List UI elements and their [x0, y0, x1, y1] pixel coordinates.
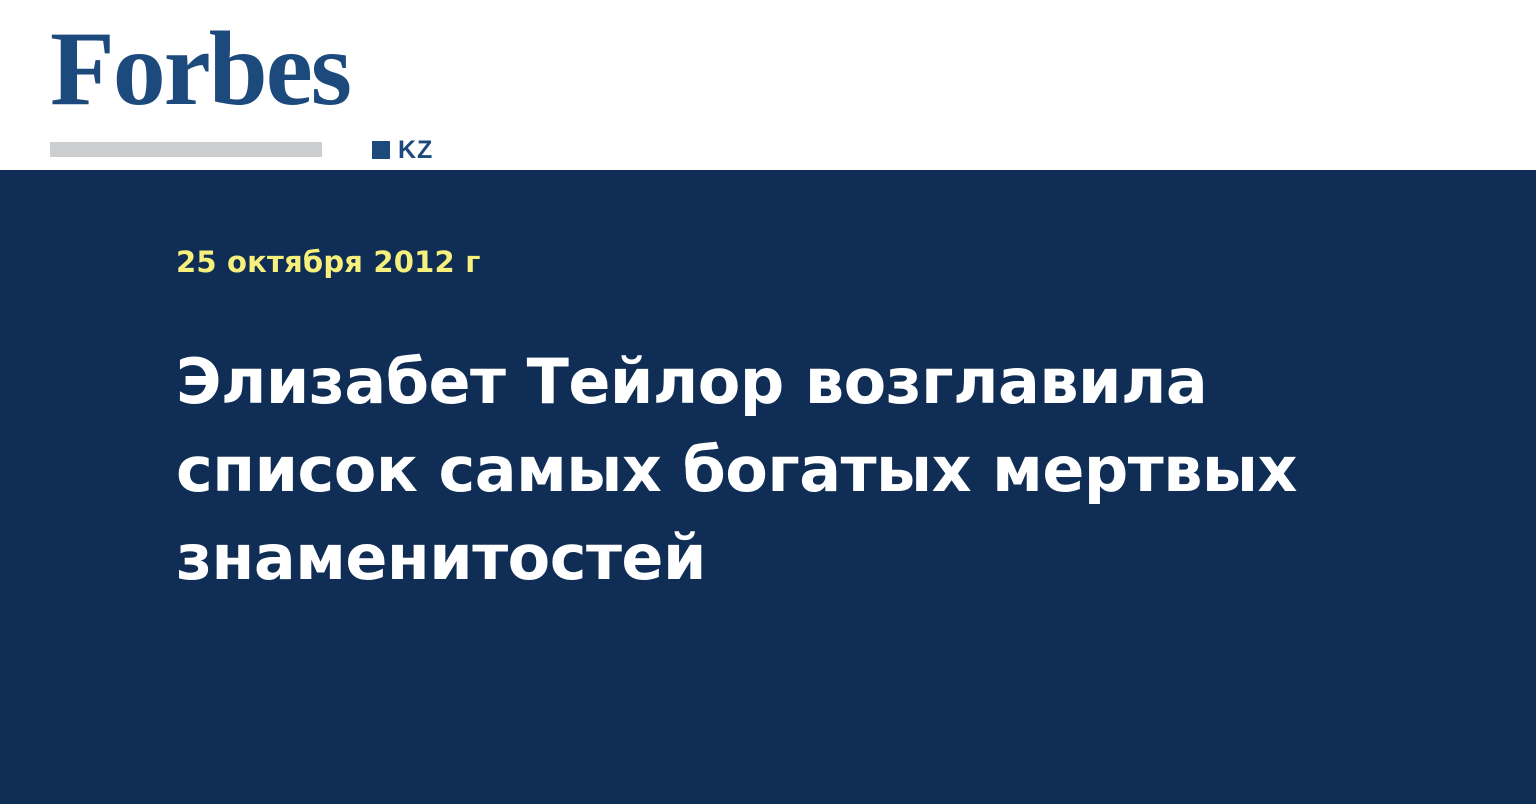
logo-underline-rule — [50, 142, 322, 157]
article-hero: 25 октября 2012 г Элизабет Тейлор возгла… — [0, 170, 1536, 804]
forbes-wordmark: Forbes — [50, 16, 350, 122]
article-header-page: Forbes KZ 25 октября 2012 г Элизабет Тей… — [0, 0, 1536, 804]
article-headline: Элизабет Тейлор возглавила список самых … — [176, 338, 1326, 602]
forbes-kz-square-mark-icon — [372, 141, 390, 159]
forbes-kz-logo[interactable]: Forbes KZ — [50, 22, 410, 148]
logo-country-code: KZ — [398, 138, 433, 163]
site-masthead: Forbes KZ — [0, 0, 1536, 170]
article-publish-date: 25 октября 2012 г — [176, 248, 481, 277]
